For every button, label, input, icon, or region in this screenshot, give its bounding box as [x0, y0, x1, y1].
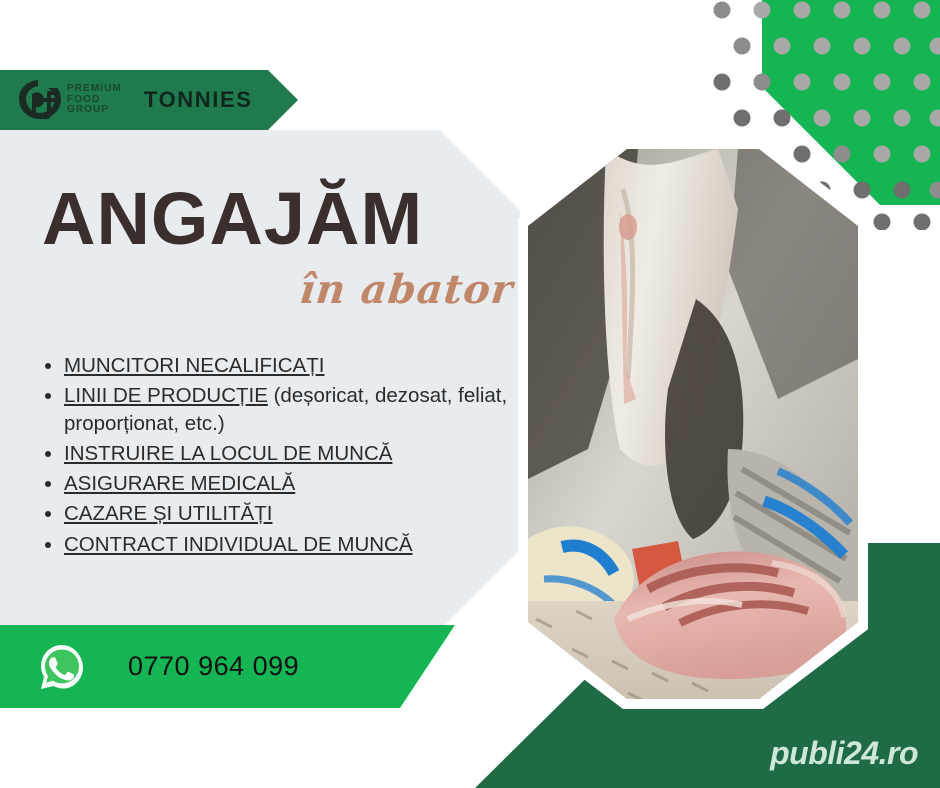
job-ad-poster: PREMIUM FOOD GROUP TONNIES ANGAJĂM în ab… — [0, 0, 940, 788]
list-item: MUNCITORI NECALIFICAȚI — [64, 352, 534, 379]
contact-banner[interactable]: 0770 964 099 — [0, 625, 455, 708]
phone-number[interactable]: 0770 964 099 — [128, 651, 299, 682]
benefits-list: MUNCITORI NECALIFICAȚI LINII DE PRODUCȚI… — [36, 352, 534, 561]
list-item: LINII DE PRODUCȚIE (deșoricat, dezosat, … — [64, 382, 534, 437]
photo-illustration — [528, 149, 858, 699]
abattoir-meat-processing-photo — [528, 149, 858, 699]
photo-octagon-frame — [518, 139, 868, 709]
list-item: CONTRACT INDIVIDUAL DE MUNCĂ — [64, 531, 534, 558]
logo-line-3: GROUP — [67, 105, 122, 116]
list-item: INSTRUIRE LA LOCUL DE MUNCĂ — [64, 440, 534, 467]
list-item-strong: INSTRUIRE LA LOCUL DE MUNCĂ — [64, 442, 392, 465]
page-title: ANGAJĂM — [42, 182, 423, 256]
brand-tab: PREMIUM FOOD GROUP TONNIES — [0, 70, 298, 130]
whatsapp-icon[interactable] — [38, 643, 86, 691]
brand-name: TONNIES — [144, 87, 253, 113]
pfg-monogram-icon — [14, 77, 66, 123]
list-item-strong: CAZARE ȘI UTILITĂȚI — [64, 502, 272, 525]
list-item-strong: ASIGURARE MEDICALĂ — [64, 472, 295, 495]
list-item: ASIGURARE MEDICALĂ — [64, 470, 534, 497]
list-item-strong: MUNCITORI NECALIFICAȚI — [64, 354, 324, 377]
site-watermark: publi24.ro — [770, 735, 918, 772]
logo-wordmark: PREMIUM FOOD GROUP — [67, 84, 122, 116]
list-item: CAZARE ȘI UTILITĂȚI — [64, 500, 534, 527]
page-subtitle: în abator — [298, 266, 516, 313]
list-item-strong: LINII DE PRODUCȚIE — [64, 384, 268, 407]
list-item-strong: CONTRACT INDIVIDUAL DE MUNCĂ — [64, 533, 413, 556]
